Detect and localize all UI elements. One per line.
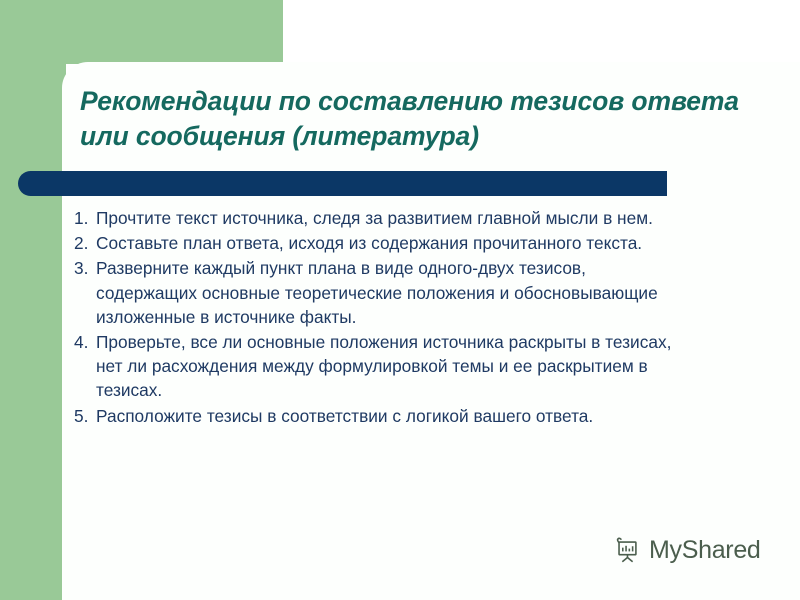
list-item-number: 5. [74, 404, 96, 428]
list-item: 3. Разверните каждый пункт плана в виде … [74, 256, 684, 329]
list-item-number: 4. [74, 330, 96, 403]
list-item-number: 1. [74, 206, 96, 230]
list-item: 5. Расположите тезисы в соответствии с л… [74, 404, 684, 428]
watermark-label: MyShared [649, 538, 761, 563]
list-item-number: 2. [74, 231, 96, 255]
list-item-text: Разверните каждый пункт плана в виде одн… [96, 256, 684, 329]
list-item: 4. Проверьте, все ли основные положения … [74, 330, 684, 403]
decorative-green-left-column [0, 0, 66, 600]
recommendations-list: 1. Прочтите текст источника, следя за ра… [74, 206, 684, 429]
list-item: 1. Прочтите текст источника, следя за ра… [74, 206, 684, 230]
slide-title: Рекомендации по составлению тезисов отве… [80, 84, 740, 154]
list-item-text: Составьте план ответа, исходя из содержа… [96, 231, 684, 255]
decorative-navy-accent-bar [18, 171, 667, 196]
presentation-flipchart-icon [612, 535, 642, 565]
myshared-watermark: MyShared [612, 535, 761, 565]
list-item-text: Проверьте, все ли основные положения ист… [96, 330, 684, 403]
list-item-text: Расположите тезисы в соответствии с логи… [96, 404, 684, 428]
list-item: 2. Составьте план ответа, исходя из соде… [74, 231, 684, 255]
slide-canvas: Рекомендации по составлению тезисов отве… [0, 0, 800, 600]
list-item-number: 3. [74, 256, 96, 329]
list-item-text: Прочтите текст источника, следя за разви… [96, 206, 684, 230]
